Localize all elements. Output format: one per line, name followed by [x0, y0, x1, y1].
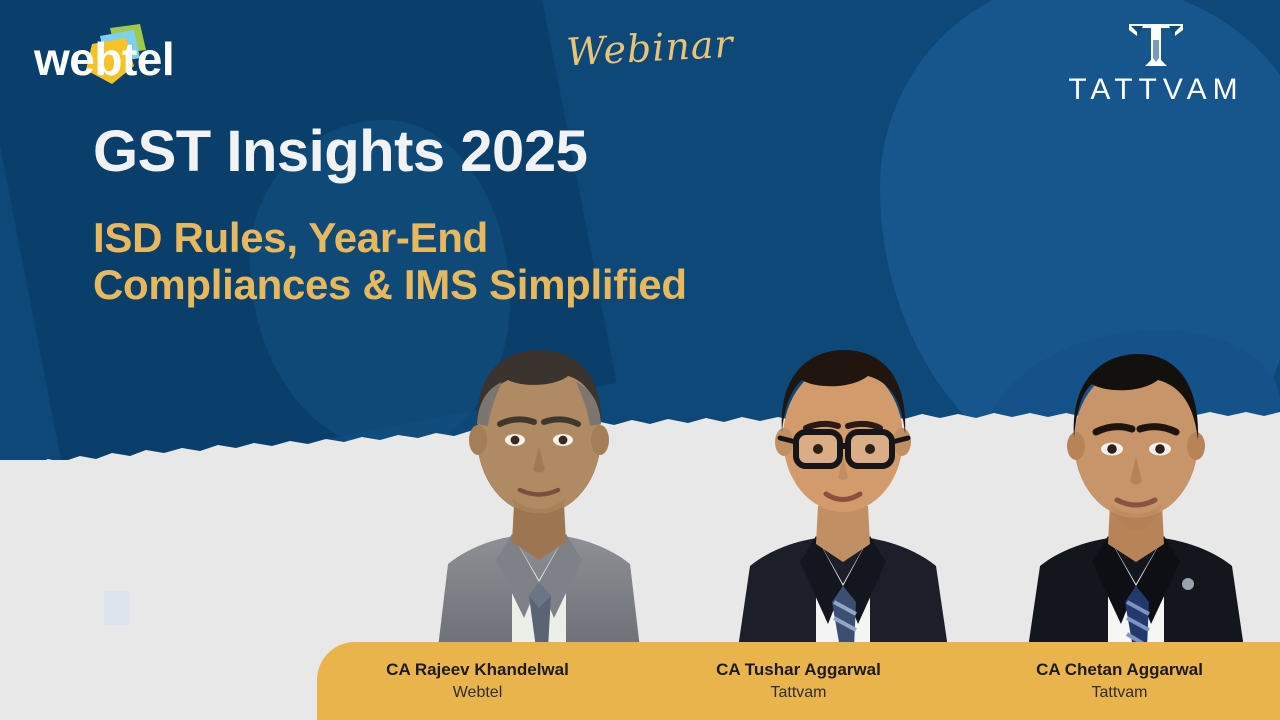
speaker-entry-1: CA Rajeev Khandelwal Webtel [317, 660, 638, 702]
speaker-portrait-1 [408, 328, 670, 648]
page-title: GST Insights 2025 [93, 122, 587, 183]
webtel-logo[interactable]: webtel [34, 22, 194, 92]
speaker-portrait-2 [718, 334, 968, 648]
page-subtitle: ISD Rules, Year-End Compliances & IMS Si… [93, 214, 687, 308]
speaker-portrait-3 [1010, 352, 1262, 648]
tattvam-logo[interactable]: TATTVAM [1066, 16, 1246, 105]
subtitle-line-2: Compliances & IMS Simplified [93, 261, 687, 308]
speaker-org-1: Webtel [317, 683, 638, 702]
speaker-org-2: Tattvam [638, 683, 959, 702]
watermark-placeholder [104, 591, 130, 625]
speaker-name-bar: CA Rajeev Khandelwal Webtel CA Tushar Ag… [317, 642, 1280, 720]
speaker-name-2: CA Tushar Aggarwal [638, 660, 959, 680]
subtitle-line-1: ISD Rules, Year-End [93, 214, 687, 261]
webinar-banner: webtel Webinar TATTVAM GST Insights 2025… [0, 0, 1280, 720]
speaker-entry-3: CA Chetan Aggarwal Tattvam [959, 660, 1280, 702]
speaker-name-1: CA Rajeev Khandelwal [317, 660, 638, 680]
speaker-name-3: CA Chetan Aggarwal [959, 660, 1280, 680]
tattvam-t-monogram-icon [1121, 16, 1191, 68]
speaker-org-3: Tattvam [959, 683, 1280, 702]
tattvam-wordmark: TATTVAM [1066, 75, 1246, 105]
speaker-entry-2: CA Tushar Aggarwal Tattvam [638, 660, 959, 702]
webtel-wordmark: webtel [34, 36, 174, 82]
